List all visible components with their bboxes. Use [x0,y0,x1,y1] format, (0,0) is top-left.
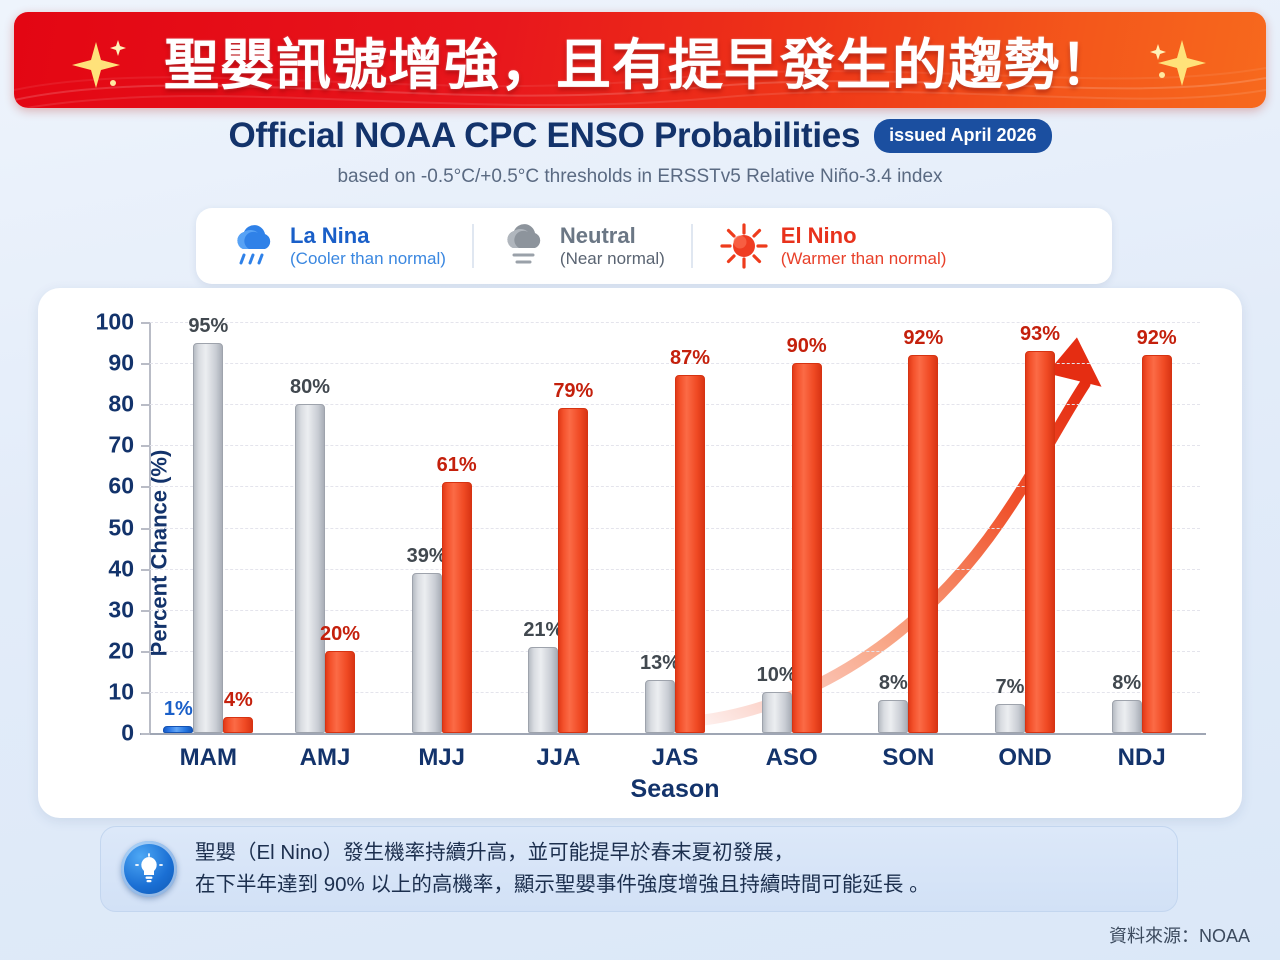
bar-slot-red: 92% [908,322,938,733]
bar-slot-blue: 1% [163,322,193,733]
lightbulb-icon [121,841,177,897]
y-tick-label: 40 [108,555,134,582]
legend-desc-el-nino: (Warmer than normal) [781,249,947,269]
legend-desc-la-nina: (Cooler than normal) [290,249,446,269]
bar-group: 13%87%JAS [617,322,734,733]
bar-gray[interactable] [528,647,558,733]
bar-red[interactable] [792,363,822,733]
x-tick-label: MJJ [418,744,465,772]
insight-note-text: 聖嬰（El Nino）發生機率持續升高，並可能提早於春末夏初發展， 在下半年達到… [195,837,930,901]
bar-value-label: 93% [1020,323,1060,346]
bar-value-label: 4% [224,689,253,712]
bar-red[interactable] [675,375,705,733]
x-axis-title-wrap: Season [38,775,1242,804]
title-row: Official NOAA CPC ENSO Probabilities iss… [0,116,1280,156]
cloud-icon [500,223,548,269]
y-tick-label: 30 [108,596,134,623]
bar-blue[interactable] [163,726,193,733]
bar-value-label: 87% [670,347,710,370]
bar-gray[interactable] [193,343,223,733]
bar-slot-red: 20% [325,322,355,733]
bar-group: 1%95%4%MAM [150,322,267,733]
bar-group: 8%92%NDJ [1083,322,1200,733]
bar-value-label: 10% [757,664,797,687]
issued-date-badge: issued April 2026 [874,119,1051,153]
bar-gray[interactable] [295,404,325,733]
x-tick-label: MAM [180,744,237,772]
bar-red[interactable] [325,651,355,733]
bar-slot-red: 90% [792,322,822,733]
bar-slot-red: 93% [1025,322,1055,733]
bar-value-label: 80% [290,376,330,399]
chart-header: Official NOAA CPC ENSO Probabilities iss… [0,116,1280,188]
bar-gray[interactable] [412,573,442,733]
bar-gray[interactable] [878,700,908,733]
bar-value-label: 7% [996,676,1025,699]
banner-title: 聖嬰訊號增強，且有提早發生的趨勢！ [164,20,1116,100]
bar-slot-gray: 80% [295,322,325,733]
bar-group: 7%93%OND [967,322,1084,733]
y-tick-mark [141,404,150,406]
page-title: Official NOAA CPC ENSO Probabilities [228,116,860,156]
y-tick-mark [141,528,150,530]
bar-group: 10%90%ASO [733,322,850,733]
y-tick-mark [141,322,150,324]
x-axis-title: Season [631,775,720,804]
bar-value-label: 95% [188,315,228,338]
y-tick-label: 70 [108,432,134,459]
bar-slot-gray: 95% [193,322,223,733]
x-tick-label: OND [998,744,1051,772]
x-tick-label: JJA [536,744,580,772]
y-tick-mark [141,569,150,571]
bar-red[interactable] [223,717,253,733]
chart-card: Percent Chance (%) 010203040506070809010… [38,288,1242,818]
bar-slot-gray: 7% [995,322,1025,733]
bar-value-label: 13% [640,652,680,675]
sun-icon [719,222,769,270]
bar-gray[interactable] [1112,700,1142,733]
bar-slot-red: 61% [442,322,472,733]
bar-group: 8%92%SON [850,322,967,733]
rain-cloud-icon [230,223,278,269]
bar-slot-gray: 8% [878,322,908,733]
headline-banner: 聖嬰訊號增強，且有提早發生的趨勢！ [14,12,1266,108]
legend-item-el-nino: El Nino (Warmer than normal) [693,222,973,270]
bar-slot-red: 92% [1142,322,1172,733]
bar-slot-red: 87% [675,322,705,733]
bar-red[interactable] [1025,351,1055,733]
source-attribution: 資料來源：NOAA [1109,922,1250,948]
legend-item-neutral: Neutral (Near normal) [474,223,691,269]
y-tick-label: 50 [108,514,134,541]
legend-desc-neutral: (Near normal) [560,249,665,269]
bar-gray[interactable] [995,704,1025,733]
chart-legend: La Nina (Cooler than normal) Neutral (Ne… [196,208,1112,284]
insight-note: 聖嬰（El Nino）發生機率持續升高，並可能提早於春末夏初發展， 在下半年達到… [100,826,1178,912]
bar-slot-gray: 10% [762,322,792,733]
banner-surface: 聖嬰訊號增強，且有提早發生的趨勢！ [14,12,1266,108]
insight-note-line-1: 聖嬰（El Nino）發生機率持續升高，並可能提早於春末夏初發展， [195,837,930,869]
bar-red[interactable] [908,355,938,733]
bar-value-label: 92% [1137,327,1177,350]
bar-value-label: 8% [879,672,908,695]
bar-slot-gray: 39% [412,322,442,733]
y-tick-mark [141,610,150,612]
y-tick-mark [141,486,150,488]
bar-value-label: 79% [553,380,593,403]
bar-gray[interactable] [762,692,792,733]
bar-gray[interactable] [645,680,675,733]
x-tick-label: SON [882,744,934,772]
bar-slot-red: 4% [223,322,253,733]
y-tick-label: 0 [121,720,134,747]
y-tick-mark [141,363,150,365]
x-axis-line [140,733,1206,735]
y-tick-label: 20 [108,637,134,664]
bar-value-label: 8% [1112,672,1141,695]
y-tick-label: 10 [108,678,134,705]
x-tick-label: JAS [652,744,699,772]
x-tick-label: ASO [766,744,818,772]
y-tick-mark [141,733,150,735]
insight-note-line-2: 在下半年達到 90% 以上的高機率，顯示聖嬰事件強度增強且持續時間可能延長 。 [195,869,930,901]
bar-slot-gray: 8% [1112,322,1142,733]
bar-value-label: 92% [903,327,943,350]
plot-area: 01020304050607080901001%95%4%MAM80%20%AM… [150,322,1200,733]
y-tick-mark [141,651,150,653]
y-tick-label: 80 [108,391,134,418]
legend-label-el-nino: El Nino [781,223,947,249]
bar-group: 80%20%AMJ [267,322,384,733]
x-tick-label: NDJ [1118,744,1166,772]
bar-value-label: 90% [787,335,827,358]
bar-group: 39%61%MJJ [383,322,500,733]
legend-text-group: La Nina (Cooler than normal) [290,223,446,269]
legend-label-la-nina: La Nina [290,223,446,249]
bar-value-label: 61% [437,454,477,477]
y-tick-label: 90 [108,350,134,377]
bar-value-label: 1% [164,698,193,721]
bar-slot-red: 79% [558,322,588,733]
legend-text-group: Neutral (Near normal) [560,223,665,269]
bar-slot-gray: 13% [645,322,675,733]
bar-red[interactable] [558,408,588,733]
y-tick-label: 100 [96,309,134,336]
bar-red[interactable] [1142,355,1172,733]
legend-label-neutral: Neutral [560,223,665,249]
y-tick-mark [141,692,150,694]
y-tick-mark [141,445,150,447]
legend-item-la-nina: La Nina (Cooler than normal) [196,223,472,269]
legend-text-group: El Nino (Warmer than normal) [781,223,947,269]
bar-group: 21%79%JJA [500,322,617,733]
bar-value-label: 21% [523,619,563,642]
bar-value-label: 20% [320,623,360,646]
bar-value-label: 39% [407,545,447,568]
x-tick-label: AMJ [300,744,351,772]
bar-red[interactable] [442,482,472,733]
page-subtitle: based on -0.5°C/+0.5°C thresholds in ERS… [0,166,1280,188]
lightbulb-glyph [133,853,165,885]
y-tick-label: 60 [108,473,134,500]
